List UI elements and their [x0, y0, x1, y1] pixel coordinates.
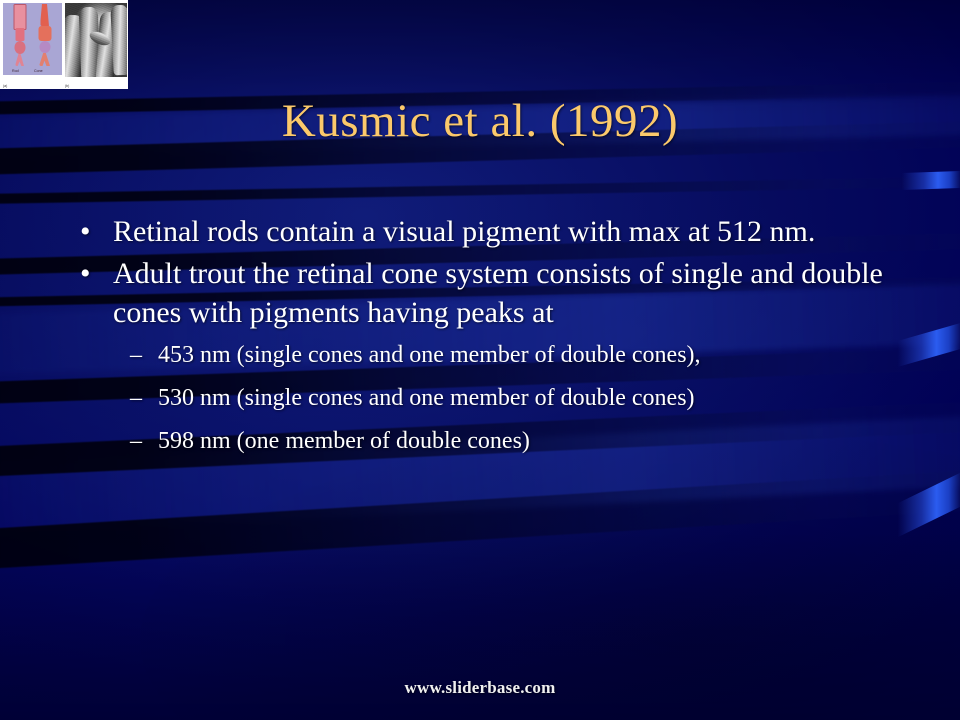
sub-bullet-item: – 598 nm (one member of double cones)	[68, 425, 912, 457]
sub-bullet-marker: –	[130, 382, 142, 414]
bullet-list: • Retinal rods contain a visual pigment …	[68, 212, 912, 332]
photoreceptor-micrograph-thumbnail: Rod Cone (a) (b)	[0, 0, 128, 89]
bullet-text: Adult trout the retinal cone system cons…	[113, 257, 883, 329]
slide-body: • Retinal rods contain a visual pigment …	[68, 212, 912, 468]
slide-footer-url: www.sliderbase.com	[0, 678, 960, 698]
bullet-item: • Adult trout the retinal cone system co…	[68, 254, 912, 332]
sub-bullet-item: – 453 nm (single cones and one member of…	[68, 339, 912, 371]
sub-bullet-marker: –	[130, 339, 142, 371]
cone-cell-diagram	[36, 4, 53, 66]
sub-bullet-text: 530 nm (single cones and one member of d…	[158, 385, 695, 411]
rod-cell-diagram	[12, 4, 27, 66]
panel-b-label: (b)	[65, 85, 69, 89]
panel-a-label: (a)	[3, 85, 7, 89]
presentation-slide: Rod Cone (a) (b) Kusmic et al. (1992) • …	[0, 0, 960, 720]
sem-micrograph-panel: (b)	[65, 3, 127, 87]
sub-bullet-text: 453 nm (single cones and one member of d…	[158, 342, 701, 368]
bullet-item: • Retinal rods contain a visual pigment …	[68, 212, 912, 251]
cone-label: Cone	[34, 70, 43, 74]
rod-cone-diagram-panel: Rod Cone (a)	[3, 3, 62, 87]
bullet-text: Retinal rods contain a visual pigment wi…	[113, 215, 815, 248]
rod-label: Rod	[12, 70, 19, 74]
sub-bullet-marker: –	[130, 425, 142, 457]
sub-bullet-item: – 530 nm (single cones and one member of…	[68, 382, 912, 414]
bullet-marker: •	[80, 212, 91, 251]
bullet-marker: •	[80, 254, 91, 293]
slide-title: Kusmic et al. (1992)	[0, 98, 960, 145]
sub-bullet-list: – 453 nm (single cones and one member of…	[68, 339, 912, 457]
sub-bullet-text: 598 nm (one member of double cones)	[158, 428, 530, 454]
